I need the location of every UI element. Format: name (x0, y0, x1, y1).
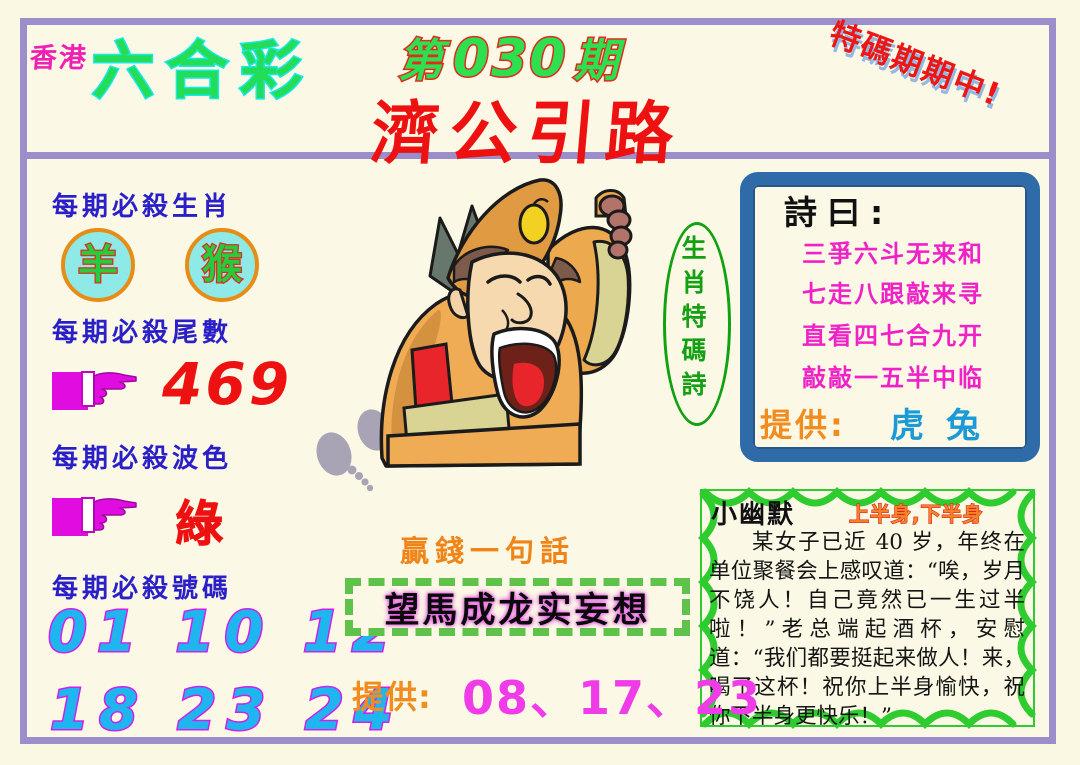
kill-numbers-row-2: 18 23 24 (50, 678, 403, 743)
tail-kill-label: 每期必殺尾數 (52, 312, 232, 349)
poster-page: 香港 六合彩 第030期 濟公引路 特碼期期中! 每期必殺生肖 羊 猴 每期必殺… (0, 0, 1080, 765)
poem-box: 詩曰: 三爭六斗无来和 七走八跟敲来寻 直看四七合九开 敲敲一五半中临 提供: … (740, 172, 1040, 462)
color-kill-value: 綠 (175, 484, 223, 554)
poem-credit-label: 提供: (760, 400, 846, 446)
pointing-hand-icon-2 (52, 492, 138, 538)
supply-value: 08、17、23 (462, 662, 762, 728)
poem-line-4: 敲敲一五半中临 (768, 358, 1018, 393)
header-region-label: 香港 (29, 36, 90, 75)
humor-subtitle: 上半身,下半身 (849, 498, 984, 527)
win-phrase-label: 贏錢一句話 (400, 528, 575, 570)
win-phrase-text: 望馬成龙实妄想 (345, 582, 690, 632)
poem-title: 詩曰: (784, 186, 893, 234)
header-lottery-name: 六合彩 (92, 20, 314, 110)
supply-label: 提供: (352, 672, 432, 718)
zodiac-value-1: 羊 (78, 245, 118, 285)
zodiac-circle-1: 羊 (61, 228, 135, 302)
poem-line-2: 七走八跟敲来寻 (768, 274, 1018, 309)
zodiac-circle-2: 猴 (185, 228, 259, 302)
pointing-hand-icon-1 (52, 366, 138, 412)
poem-line-1: 三爭六斗无来和 (768, 234, 1018, 269)
zodiac-value-2: 猴 (202, 245, 242, 285)
poem-line-3: 直看四七合九开 (768, 316, 1018, 351)
poem-credit-value: 虎兔 (890, 398, 1002, 447)
tail-kill-value: 469 (162, 350, 292, 418)
zodiac-kill-label: 每期必殺生肖 (52, 186, 232, 223)
zodiac-circles: 羊 猴 (55, 228, 305, 306)
jigong-mascot-illustration (312, 158, 664, 498)
humor-title: 小幽默 (711, 494, 795, 531)
zodiac-poem-oval-label: 生肖特碼詩 (672, 232, 716, 402)
color-kill-label: 每期必殺波色 (52, 438, 232, 475)
